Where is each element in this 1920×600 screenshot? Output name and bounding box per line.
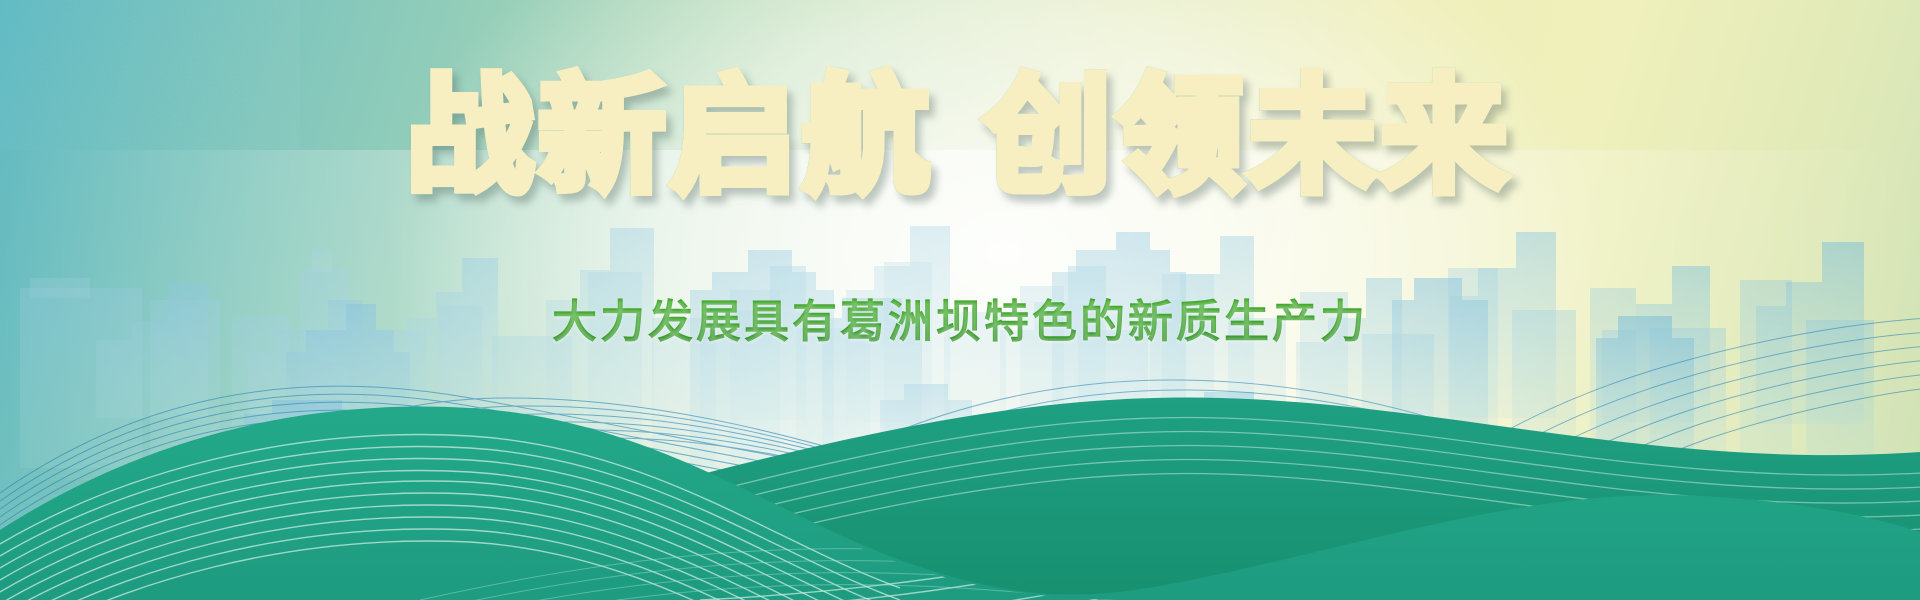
banner-root: 战新启航 创领未来 大力发展具有葛洲坝特色的新质生产力: [0, 0, 1920, 600]
wave-graphic: [0, 0, 1920, 600]
